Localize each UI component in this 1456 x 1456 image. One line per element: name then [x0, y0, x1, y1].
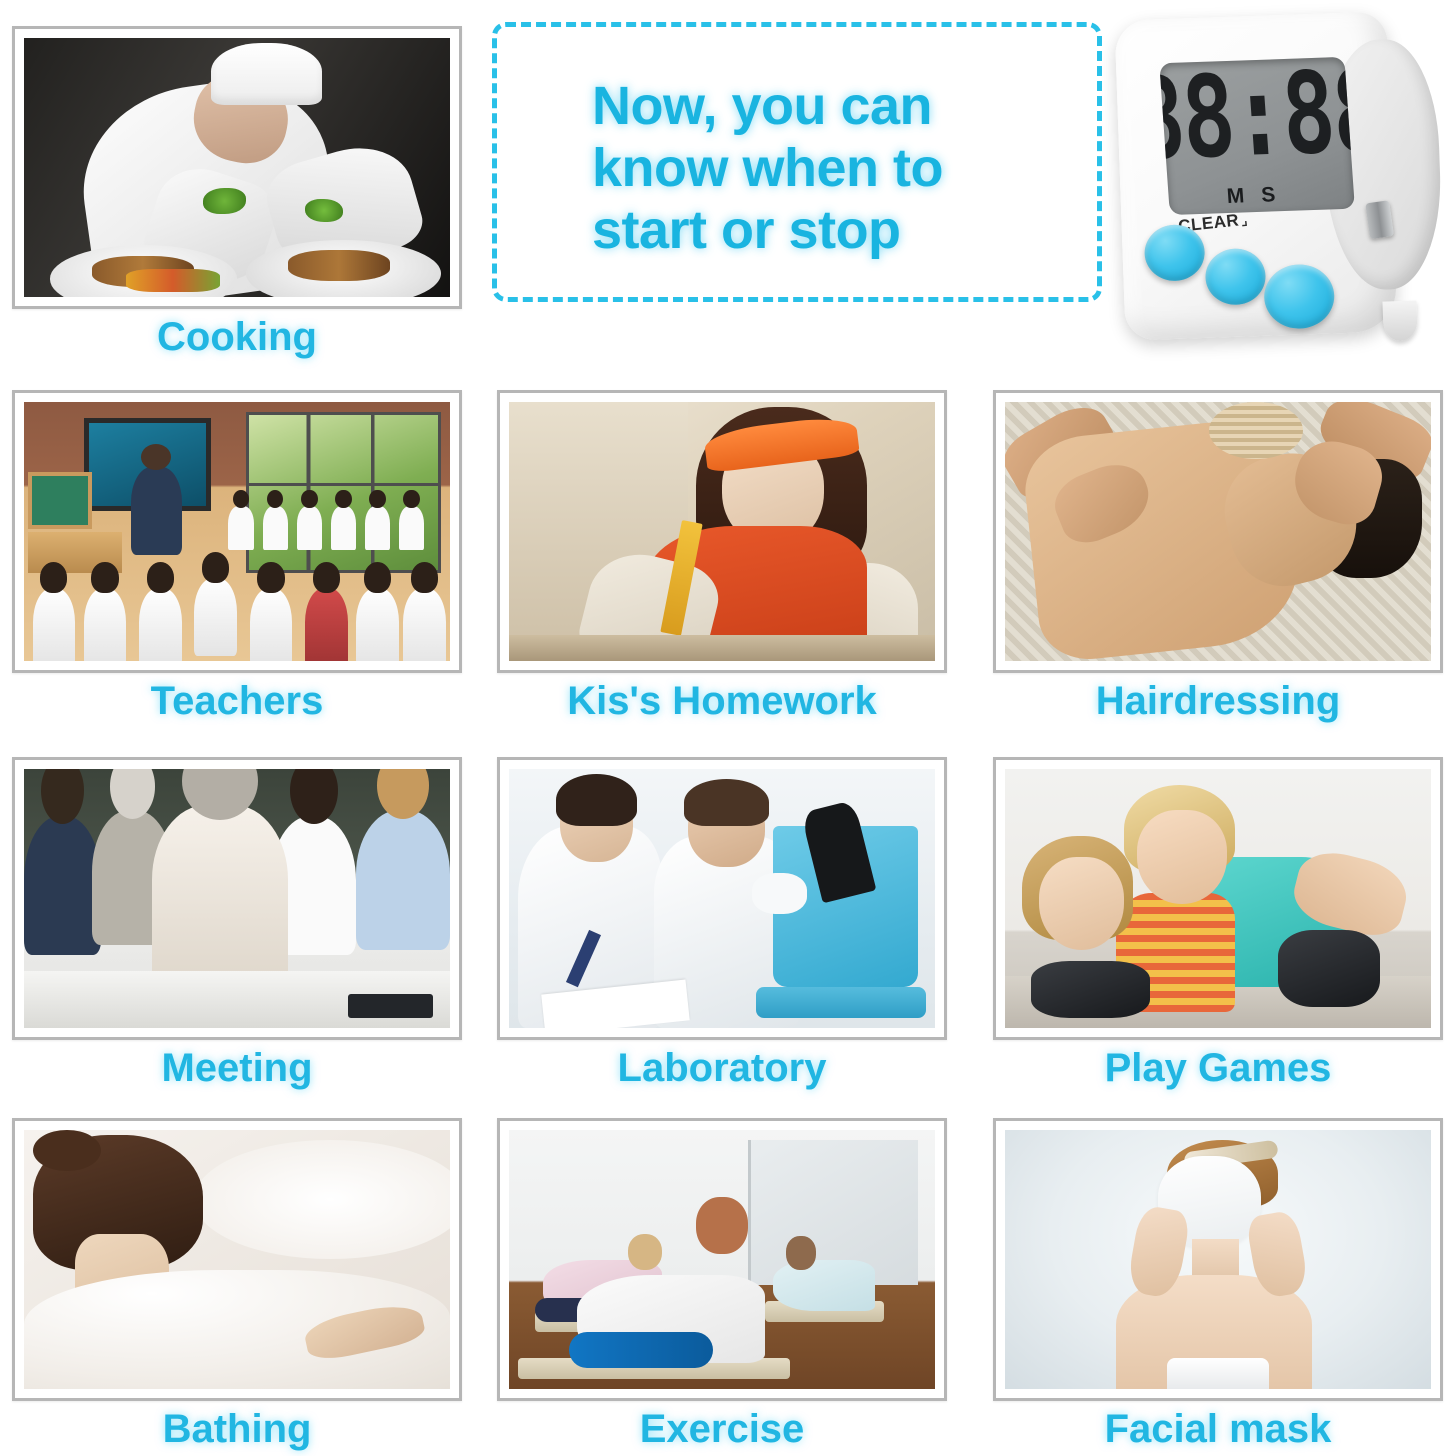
scenario-card-teachers[interactable]: Teachers — [12, 390, 462, 724]
scenario-photo-bathing — [24, 1130, 450, 1389]
photo-frame — [12, 1118, 462, 1401]
cooking-scene — [24, 38, 450, 297]
scenario-card-meeting[interactable]: Meeting — [12, 757, 462, 1091]
photo-frame — [497, 757, 947, 1040]
scenario-label-cooking: Cooking — [12, 315, 462, 360]
scenario-card-hairdressing[interactable]: Hairdressing — [993, 390, 1443, 724]
scenario-label-bathing: Bathing — [12, 1407, 462, 1452]
homework-scene — [509, 402, 935, 661]
bathing-scene — [24, 1130, 450, 1389]
scenario-photo-playgames — [1005, 769, 1431, 1028]
facialmask-scene — [1005, 1130, 1431, 1389]
scenario-label-laboratory: Laboratory — [497, 1046, 947, 1091]
photo-frame — [497, 390, 947, 673]
scenario-photo-facialmask — [1005, 1130, 1431, 1389]
scenario-card-cooking[interactable]: Cooking — [12, 26, 462, 360]
photo-frame — [12, 390, 462, 673]
scenario-label-meeting: Meeting — [12, 1046, 462, 1091]
scenario-photo-meeting — [24, 769, 450, 1028]
scenario-card-bathing[interactable]: Bathing — [12, 1118, 462, 1452]
photo-frame — [497, 1118, 947, 1401]
hairdressing-scene — [1005, 402, 1431, 661]
scenario-photo-teachers — [24, 402, 450, 661]
scenario-card-playgames[interactable]: Play Games — [993, 757, 1443, 1091]
scenario-card-facialmask[interactable]: Facial mask — [993, 1118, 1443, 1452]
photo-frame — [12, 26, 462, 309]
photo-frame — [12, 757, 462, 1040]
scenario-grid: Cooking Teachers — [0, 0, 1456, 1456]
scenario-photo-hairdressing — [1005, 402, 1431, 661]
photo-frame — [993, 1118, 1443, 1401]
scenario-label-hairdressing: Hairdressing — [993, 679, 1443, 724]
playgames-scene — [1005, 769, 1431, 1028]
scenario-photo-exercise — [509, 1130, 935, 1389]
scenario-label-exercise: Exercise — [497, 1407, 947, 1452]
scenario-label-playgames: Play Games — [993, 1046, 1443, 1091]
teachers-scene — [24, 402, 450, 661]
scenario-photo-homework — [509, 402, 935, 661]
laboratory-scene — [509, 769, 935, 1028]
scenario-label-homework: Kis's Homework — [497, 679, 947, 724]
photo-frame — [993, 757, 1443, 1040]
scenario-card-homework[interactable]: Kis's Homework — [497, 390, 947, 724]
scenario-photo-laboratory — [509, 769, 935, 1028]
photo-frame — [993, 390, 1443, 673]
scenario-label-teachers: Teachers — [12, 679, 462, 724]
scenario-card-laboratory[interactable]: Laboratory — [497, 757, 947, 1091]
exercise-scene — [509, 1130, 935, 1389]
meeting-scene — [24, 769, 450, 1028]
scenario-photo-cooking — [24, 38, 450, 297]
scenario-label-facialmask: Facial mask — [993, 1407, 1443, 1452]
scenario-card-exercise[interactable]: Exercise — [497, 1118, 947, 1452]
